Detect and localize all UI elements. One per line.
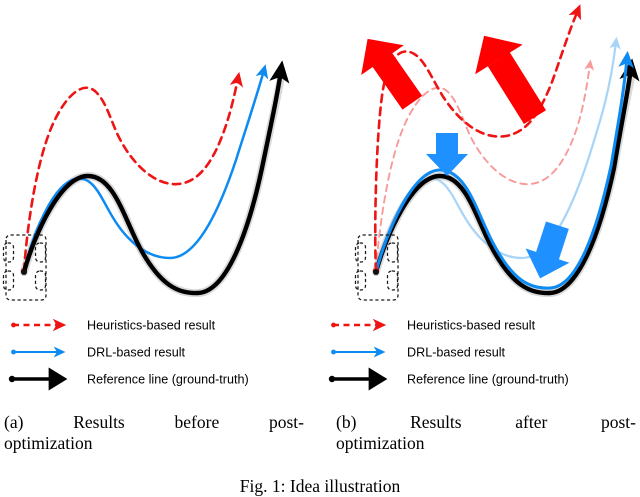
subcaption-a-line1: (a) Results before post- [4,412,304,433]
legend-label-reference-a: Reference line (ground-truth) [87,373,249,387]
legend-item-heuristics-a: Heuristics-based result [11,319,215,333]
legend-dot-drl-b [331,350,336,355]
legend-dot-heuristics-b [331,323,336,328]
red-correction-arrow-right [460,21,558,132]
legend-a: Heuristics-based result DRL-based result… [9,319,249,387]
legend-dot-drl-a [11,350,16,355]
subcaption-b-line2: optimization [336,433,636,454]
red-correction-arrow-left [346,24,433,118]
subcaption-panel-b: (b) Results after post- optimization [336,412,636,454]
vehicle-origin-dot-b [373,269,379,275]
figure-root: Heuristics-based result DRL-based result… [0,0,640,497]
legend-label-heuristics-a: Heuristics-based result [87,319,216,333]
legend-dot-heuristics-a [11,323,16,328]
legend-label-reference-b: Reference line (ground-truth) [407,373,569,387]
blue-correction-arrow-left [426,133,468,176]
legend-label-drl-b: DRL-based result [407,346,505,360]
legend-label-drl-a: DRL-based result [87,346,185,360]
vehicle-origin-dot-a [21,269,27,275]
legend-item-drl-b: DRL-based result [331,346,505,360]
subcaption-b-line1: (b) Results after post- [336,412,636,433]
legend-item-heuristics-b: Heuristics-based result [331,319,535,333]
subcaption-a-line2: optimization [4,433,304,454]
panel-b: Heuristics-based result DRL-based result… [320,0,640,400]
reference-curve-a [24,70,281,293]
figure-main-caption: Fig. 1: Idea illustration [0,476,640,497]
legend-dot-reference-a [9,376,15,382]
legend-item-drl-a: DRL-based result [11,346,185,360]
legend-dot-reference-b [329,376,335,382]
legend-item-reference-b: Reference line (ground-truth) [329,373,569,387]
legend-b: Heuristics-based result DRL-based result… [329,319,569,387]
subcaption-panel-a: (a) Results before post- optimization [4,412,304,454]
panel-a: Heuristics-based result DRL-based result… [0,0,320,400]
legend-label-heuristics-b: Heuristics-based result [407,319,536,333]
panel-b-canvas: Heuristics-based result DRL-based result… [320,0,640,400]
panel-a-canvas: Heuristics-based result DRL-based result… [0,0,320,400]
legend-item-reference-a: Reference line (ground-truth) [9,373,249,387]
